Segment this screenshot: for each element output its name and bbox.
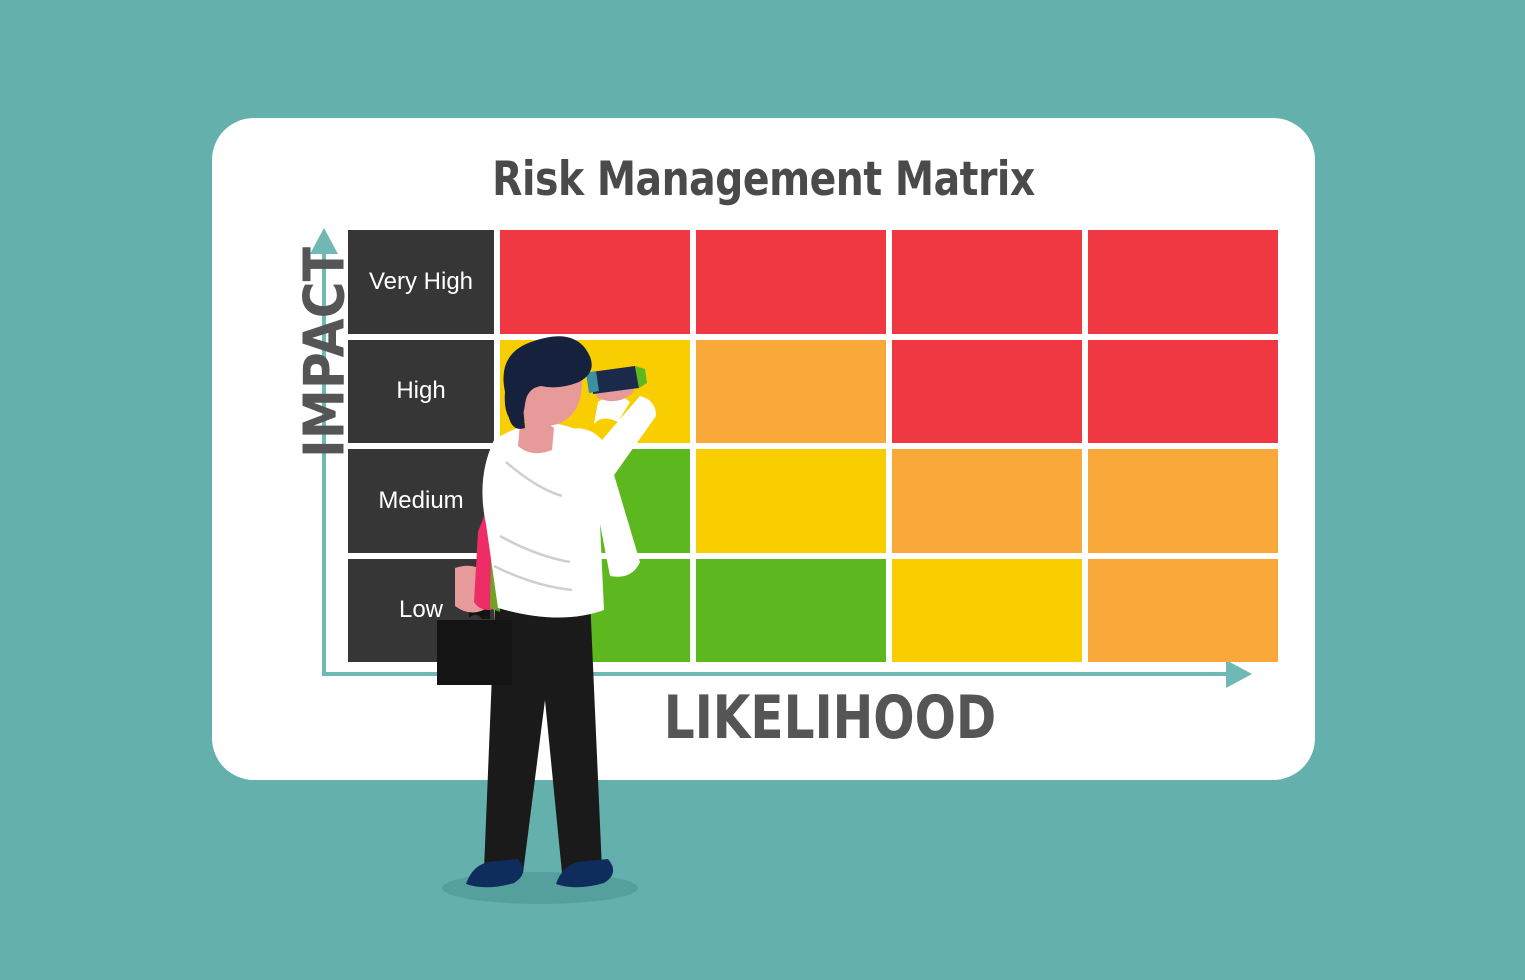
matrix-cell-r3-c3[interactable] [892,449,1082,553]
shoe-left [466,859,523,887]
x-axis-line [322,672,1230,676]
illustration-canvas: Risk Management Matrix IMPACT LIKELIHOOD… [0,0,1525,980]
row-label-medium: Medium [348,449,494,553]
matrix-cell-r1-c4[interactable] [1088,230,1278,334]
matrix-cell-r3-c4[interactable] [1088,449,1278,553]
matrix-cell-r4-c3[interactable] [892,559,1082,663]
row-label-high: High [348,340,494,444]
matrix-cell-r4-c1[interactable] [500,559,690,663]
figure-shadow [442,872,638,904]
risk-matrix-grid: Very HighHighMediumLow [348,230,1264,662]
arrow-right-icon [1226,660,1252,688]
shoe-right [556,859,613,887]
matrix-cell-r1-c1[interactable] [500,230,690,334]
matrix-cell-r2-c3[interactable] [892,340,1082,444]
row-label-low: Low [348,559,494,663]
page-title: Risk Management Matrix [251,152,1277,207]
matrix-cell-r2-c4[interactable] [1088,340,1278,444]
matrix-cell-r1-c3[interactable] [892,230,1082,334]
matrix-cell-r2-c1[interactable] [500,340,690,444]
matrix-cell-r4-c4[interactable] [1088,559,1278,663]
matrix-cell-r4-c2[interactable] [696,559,886,663]
matrix-cell-r1-c2[interactable] [696,230,886,334]
matrix-cell-r3-c2[interactable] [696,449,886,553]
x-axis-label: LIKELIHOOD [515,683,1145,753]
matrix-cell-r3-c1[interactable] [500,449,690,553]
row-label-very-high: Very High [348,230,494,334]
matrix-cell-r2-c2[interactable] [696,340,886,444]
